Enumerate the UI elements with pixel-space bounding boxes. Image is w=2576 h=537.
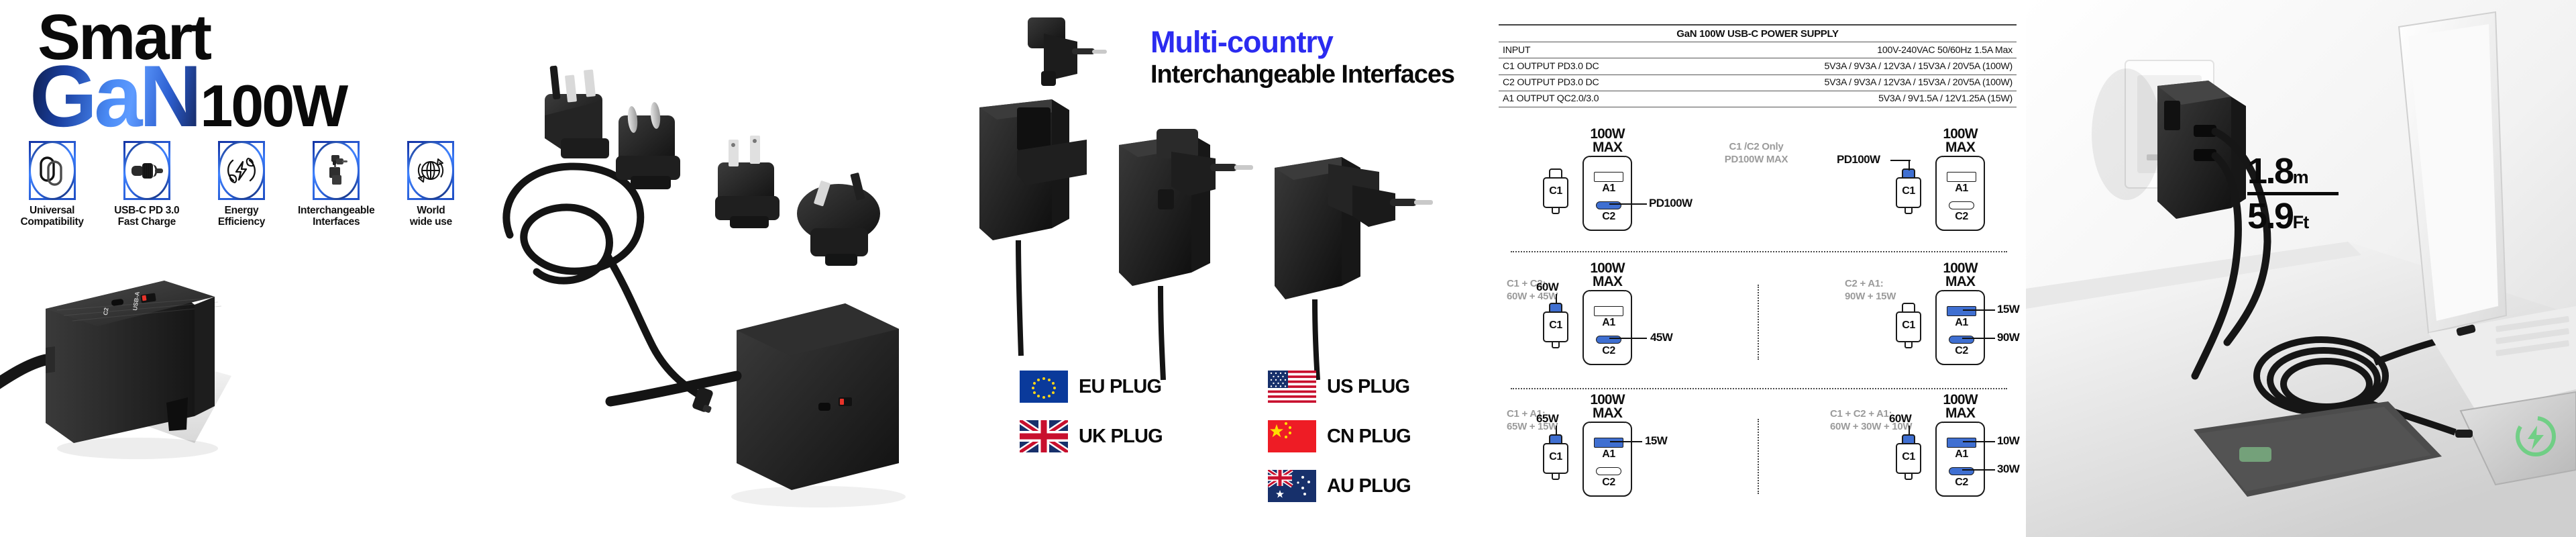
max-line2: MAX [1933,141,1987,154]
port-c2 [1949,336,1974,344]
us-flag-icon [1268,371,1316,403]
wattage-label-c1: 60W [1889,412,1911,426]
feature-interchangeable-interfaces: Interchangeable Interfaces [291,141,382,228]
power-mode-row-three: C1 + A1: 65W + 15W 100W MAX A1 C2 [1495,392,2021,524]
cable-length-imperial: 5.9Ft [2247,198,2339,234]
cable-length-metric: 1.8m [2247,153,2339,189]
charger-unit-1 [979,99,1087,356]
feature-label-line1: Universal [7,205,97,216]
connector-tail [1552,341,1560,348]
adapter-body: A1 C2 [1582,422,1632,497]
product-infographic: Smart GaN 100W Universal Compatibility [0,0,2576,537]
port-c2-label: C2 [1937,345,1986,357]
leader-line-a1 [1963,309,1995,311]
max-line1: 100W [1933,393,1987,407]
adapter-notch-right [1625,156,1632,164]
power-mode-diagram-c2-only: 100W MAX A1 C2 C1 [1495,124,1758,255]
port-c2-label: C2 [1584,477,1633,489]
max-line1: 100W [1580,262,1634,275]
universal-compatibility-icon [37,155,68,186]
max-line2: MAX [1933,407,1987,420]
multi-country-panel: Multi-country Interchangeable Interfaces [979,0,1489,537]
port-a1 [1594,306,1623,316]
plug-label: US PLUG [1327,376,1409,398]
wattage-label-c2: 30W [1997,462,2019,476]
port-a1-label: A1 [1937,448,1986,460]
adapter-notch-right [1978,290,1985,299]
power-mode-caption: C2 + A1: 90W + 15W [1845,278,1896,303]
wattage-label-a1: 15W [1645,434,1667,448]
max-line1: 100W [1580,393,1634,407]
leader-line-c1-vertical [1556,294,1557,303]
connector-tail [1904,473,1913,480]
cable-length-metric-value: 1.8 [2247,151,2293,191]
adapter-body: A1 C2 [1935,290,1985,365]
connector-c1-label: C1 [1896,320,1921,332]
connector-c1: C1 [1896,168,1921,216]
feature-label-line1: USB-C PD 3.0 [101,205,192,216]
leader-line-c2 [1609,338,1647,339]
connector-c1-label: C1 [1543,320,1568,332]
plug-item-cn: CN PLUG [1268,420,1469,452]
feature-ring [407,141,454,200]
feature-label-line1: World [386,205,476,216]
leader-line-c1-vertical [1556,426,1557,435]
wattage-label-c1: 60W [1536,281,1558,294]
connector-tail [1552,473,1560,480]
plug-item-uk: UK PLUG [1020,420,1221,452]
max-line2: MAX [1933,275,1987,289]
port-a1 [1947,306,1976,316]
eu-plug-head [616,101,680,189]
cable-length-callout: 1.8m 5.9Ft [2247,153,2339,234]
port-a1-label: A1 [1584,317,1633,329]
connector-c1: C1 [1896,302,1921,350]
plug-item-eu: EU PLUG [1020,371,1221,403]
leader-line-c1-vertical [1909,426,1910,435]
wattage-label-a1: 10W [1997,434,2019,448]
wattage-label-c1: PD100W [1837,153,1880,166]
cable-length-divider [2247,192,2339,195]
specifications-panel: GaN 100W USB-C POWER SUPPLY INPUT 100V-2… [1489,0,2026,537]
feature-label-line2: wide use [386,216,476,228]
power-mode-diagram-c2-plus-a1: C2 + A1: 90W + 15W 100W MAX A1 C2 [1758,258,2021,389]
max-line1: 100W [1933,262,1987,275]
power-mode-diagram-c1-plus-a1: C1 + A1: 65W + 15W 100W MAX A1 C2 [1495,392,1758,524]
adapter-notch-left [1935,290,1943,299]
connector-c1-label: C1 [1896,185,1921,197]
spec-key: INPUT [1499,42,1737,58]
leader-line-c2 [1962,338,1995,339]
eu-flag-icon [1020,371,1068,403]
port-c2-label: C2 [1937,477,1986,489]
connector-c1: C1 [1896,434,1921,482]
spec-table-title: GaN 100W USB-C POWER SUPPLY [1499,25,2017,42]
feature-label-line1: Energy [196,205,286,216]
feature-world-wide-use: World wide use [386,141,476,228]
spec-table: GaN 100W USB-C POWER SUPPLY INPUT 100V-2… [1499,24,2017,107]
port-c2 [1949,201,1974,209]
plug-label: AU PLUG [1327,475,1411,497]
spec-key: A1 OUTPUT QC2.0/3.0 [1499,91,1737,107]
feature-list: Universal Compatibility [7,141,476,228]
port-a1-label: A1 [1584,448,1633,460]
headline-gan-row: GaN 100W [30,52,346,140]
max-line1: 100W [1580,128,1634,141]
feature-universal-compatibility: Universal Compatibility [7,141,97,228]
spec-row-a1-output: A1 OUTPUT QC2.0/3.0 5V3A / 9V1.5A / 12V1… [1499,91,2017,107]
plug-item-au: AU PLUG [1268,470,1469,502]
wattage-label-c2: 90W [1997,331,2019,344]
adapter-body: A1 C2 [1935,422,1985,497]
charger-unit-2 [1119,129,1253,380]
power-mode-row-c1-c2-only: C1 /C2 Only PD100W MAX 100W MAX A1 [1495,124,2021,255]
leader-line-a1 [1963,441,1995,442]
max-line1: 100W [1933,128,1987,141]
feature-ring [313,141,360,200]
connector-tail [1552,207,1560,214]
caption-line2: 90W + 15W [1845,291,1896,303]
plug-label: UK PLUG [1079,426,1163,448]
interchangeable-plug-icon [321,153,351,188]
charging-indicator-tablet [2239,447,2271,462]
us-plug-head [715,136,780,228]
adapter-notch-right [1978,156,1985,164]
max-power-label: 100W MAX [1933,262,1987,288]
spec-value: 5V3A / 9V1.5A / 12V1.25A (15W) [1737,91,2017,107]
usb-c-cable [506,166,701,396]
connector-c1-label: C1 [1543,451,1568,463]
port-c2-label: C2 [1584,345,1633,357]
cable-length-imperial-unit: Ft [2293,212,2309,232]
interchangeable-charger-photos [979,7,1489,383]
spec-value: 5V3A / 9V3A / 12V3A / 15V3A / 20V5A (100… [1737,58,2017,75]
feature-ring [29,141,76,200]
accessories-panel [470,0,979,537]
port-c2 [1596,467,1621,475]
uk-plug-head [545,66,609,158]
adapter-body: A1 C2 [1582,156,1632,231]
port-c2-label: C2 [1584,211,1633,223]
hero-panel: Smart GaN 100W Universal Compatibility [0,0,483,537]
feature-label: World wide use [386,205,476,228]
leader-line-c2 [1609,203,1647,205]
connector-c1: C1 [1543,302,1568,350]
energy-efficiency-icon [225,154,258,187]
lifestyle-panel: 1.8m 5.9Ft [2026,0,2576,537]
wattage-label-c2: 45W [1650,331,1672,344]
plug-item-us: US PLUG [1268,371,1469,403]
adapter-body: A1 C2 [1582,290,1632,365]
feature-label-line1: Interchangeable [291,205,382,216]
headline-gan: GaN [30,52,199,140]
adapter-notch-left [1935,422,1943,430]
feature-ring [123,141,170,200]
port-c2 [1596,201,1621,209]
spec-value: 100V-240VAC 50/60Hz 1.5A Max [1737,42,2017,58]
product-port-label-c2: C2 [102,307,110,315]
feature-label-line2: Interfaces [291,216,382,228]
max-line2: MAX [1580,275,1634,289]
cable-length-imperial-value: 5.9 [2247,196,2293,236]
spec-key: C2 OUTPUT PD3.0 DC [1499,75,1737,91]
port-a1-label: A1 [1584,183,1633,195]
spec-row-input: INPUT 100V-240VAC 50/60Hz 1.5A Max [1499,42,2017,58]
wattage-label-a1: 15W [1997,303,2019,316]
connector-c1-label: C1 [1543,185,1568,197]
connector-c1: C1 [1543,168,1568,216]
adapter-notch-right [1625,290,1632,299]
power-mode-diagram-c1-c2-a1: C1 + C2 + A1: 60W + 30W + 10W 100W MAX A… [1758,392,2021,524]
charger-unit-3 [1275,157,1433,380]
connector-tail [1904,341,1913,348]
feature-label: Interchangeable Interfaces [291,205,382,228]
cable-length-metric-unit: m [2293,167,2308,187]
spec-row-c2-output: C2 OUTPUT PD3.0 DC 5V3A / 9V3A / 12V3A /… [1499,75,2017,91]
max-power-label: 100W MAX [1580,262,1634,288]
port-a1-label: A1 [1937,317,1986,329]
connector-c1-label: C1 [1896,451,1921,463]
port-a1 [1594,438,1623,448]
spec-table-title-row: GaN 100W USB-C POWER SUPPLY [1499,25,2017,42]
spec-value: 5V3A / 9V3A / 12V3A / 15V3A / 20V5A (100… [1737,75,2017,91]
caption-line1: C2 + A1: [1845,278,1896,291]
connector-tail [1904,207,1913,214]
adapter-notch-left [1582,422,1590,430]
max-line2: MAX [1580,141,1634,154]
charger-body-with-cable [610,303,906,507]
max-power-label: 100W MAX [1580,393,1634,420]
plug-label: EU PLUG [1079,376,1161,398]
port-c2 [1949,467,1974,475]
port-c2-label: C2 [1937,211,1986,223]
adapter-body: A1 C2 [1935,156,1985,231]
au-plug-head [797,173,880,266]
leader-line-c1 [1890,160,1911,161]
power-mode-diagrams: C1 /C2 Only PD100W MAX 100W MAX A1 [1495,124,2021,532]
adapter-notch-left [1582,290,1590,299]
product-photo-charger-in-socket: C2 USB-A [0,222,275,503]
lifestyle-photo-desk-scene [2026,0,2576,537]
power-mode-diagram-c1-plus-c2: C1 + C2: 60W + 45W 100W MAX A1 C2 [1495,258,1758,389]
max-power-label: 100W MAX [1933,393,1987,420]
connector-c1: C1 [1543,434,1568,482]
feature-ring [218,141,265,200]
spec-key: C1 OUTPUT PD3.0 DC [1499,58,1737,75]
leader-line-c2 [1962,469,1995,471]
plug-type-list: EU PLUG [1020,371,1476,502]
port-a1 [1947,172,1976,182]
cn-flag-icon [1268,420,1316,452]
port-c2 [1596,336,1621,344]
accessories-photo [470,0,979,537]
port-a1 [1947,438,1976,448]
usb-c-connector-icon [129,156,164,185]
au-flag-icon [1268,470,1316,502]
adapter-notch-right [1978,422,1985,430]
power-mode-row-two: C1 + C2: 60W + 45W 100W MAX A1 C2 [1495,258,2021,389]
max-power-label: 100W MAX [1580,128,1634,154]
adapter-notch-left [1582,156,1590,164]
adapter-notch-right [1625,422,1632,430]
globe-icon [415,154,446,187]
port-a1 [1594,172,1623,182]
port-a1-label: A1 [1937,183,1986,195]
headline-watt: 100W [200,77,346,136]
max-power-label: 100W MAX [1933,128,1987,154]
wattage-label-c2: PD100W [1649,197,1692,210]
leader-line-c1-vertical [1909,160,1910,170]
spec-row-c1-output: C1 OUTPUT PD3.0 DC 5V3A / 9V3A / 12V3A /… [1499,58,2017,75]
detached-eu-head [1028,17,1107,86]
plug-label: CN PLUG [1327,426,1411,448]
max-line2: MAX [1580,407,1634,420]
feature-energy-efficiency: Energy Efficiency [196,141,286,228]
adapter-notch-left [1935,156,1943,164]
wattage-label-c1: 65W [1536,412,1558,426]
uk-flag-icon [1020,420,1068,452]
leader-line-a1 [1610,441,1642,442]
feature-usb-c-fast-charge: USB-C PD 3.0 Fast Charge [101,141,192,228]
power-mode-diagram-c1-only: 100W MAX A1 C2 C1 [1758,124,2021,255]
